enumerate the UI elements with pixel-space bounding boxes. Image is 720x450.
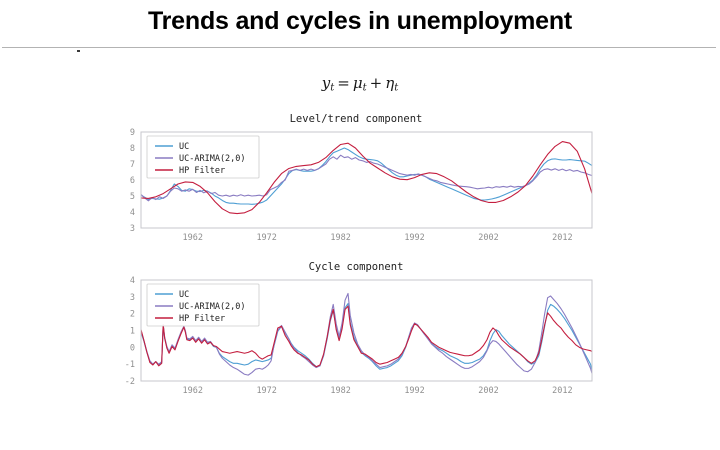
header-divider <box>2 47 716 48</box>
equation-term-1: μt <box>353 74 367 92</box>
x-tick-label: 1972 <box>256 233 276 243</box>
x-tick-label: 1982 <box>330 386 350 396</box>
y-tick-label: 4 <box>130 276 135 286</box>
x-tick-label: 1992 <box>404 233 424 243</box>
y-tick-label: 6 <box>130 176 135 186</box>
legend-label: UC <box>179 290 189 300</box>
x-tick-label: 1962 <box>183 386 203 396</box>
legend-label: HP Filter <box>179 166 225 176</box>
y-tick-label: 4 <box>130 208 135 218</box>
model-equation: yt=μt+ηt <box>0 74 720 94</box>
x-tick-label: 1972 <box>256 386 276 396</box>
legend-label: UC-ARIMA(2,0) <box>179 302 246 312</box>
legend-label: UC-ARIMA(2,0) <box>179 154 246 164</box>
x-tick-label: 1982 <box>330 233 350 243</box>
legend-label: UC <box>179 142 189 152</box>
equals-sign: = <box>334 74 353 92</box>
plus-sign: + <box>367 74 386 92</box>
y-tick-label: -2 <box>125 377 135 387</box>
chart-panel-level-trend: Level/trend component 345678919621972198… <box>108 113 604 258</box>
x-tick-label: 2002 <box>478 233 498 243</box>
x-tick-label: 1992 <box>404 386 424 396</box>
y-tick-label: 1 <box>130 327 135 337</box>
equation-term-2: ηt <box>385 74 398 92</box>
page-title: Trends and cycles in unemployment <box>0 6 720 36</box>
y-tick-label: 7 <box>130 160 135 170</box>
y-tick-label: -1 <box>125 360 135 370</box>
equation-lhs: yt <box>322 74 335 92</box>
y-tick-label: 3 <box>130 224 135 234</box>
stray-mark <box>77 50 80 52</box>
y-tick-label: 9 <box>130 128 135 138</box>
y-tick-label: 8 <box>130 144 135 154</box>
x-tick-label: 2012 <box>552 233 572 243</box>
x-tick-label: 2002 <box>478 386 498 396</box>
chart-title-level-trend: Level/trend component <box>108 113 604 125</box>
y-tick-label: 2 <box>130 310 135 320</box>
figure-area: Level/trend component 345678919621972198… <box>108 113 604 413</box>
y-tick-label: 3 <box>130 293 135 303</box>
x-tick-label: 2012 <box>552 386 572 396</box>
x-tick-label: 1962 <box>183 233 203 243</box>
chart-panel-cycle: Cycle component -2-101234196219721982199… <box>108 261 604 411</box>
y-tick-label: 0 <box>130 343 135 353</box>
legend-label: HP Filter <box>179 314 225 324</box>
chart-level-trend: 3456789196219721982199220022012UCUC-ARIM… <box>108 113 604 245</box>
chart-title-cycle: Cycle component <box>108 261 604 273</box>
chart-cycle: -2-101234196219721982199220022012UCUC-AR… <box>108 261 604 398</box>
y-tick-label: 5 <box>130 192 135 202</box>
